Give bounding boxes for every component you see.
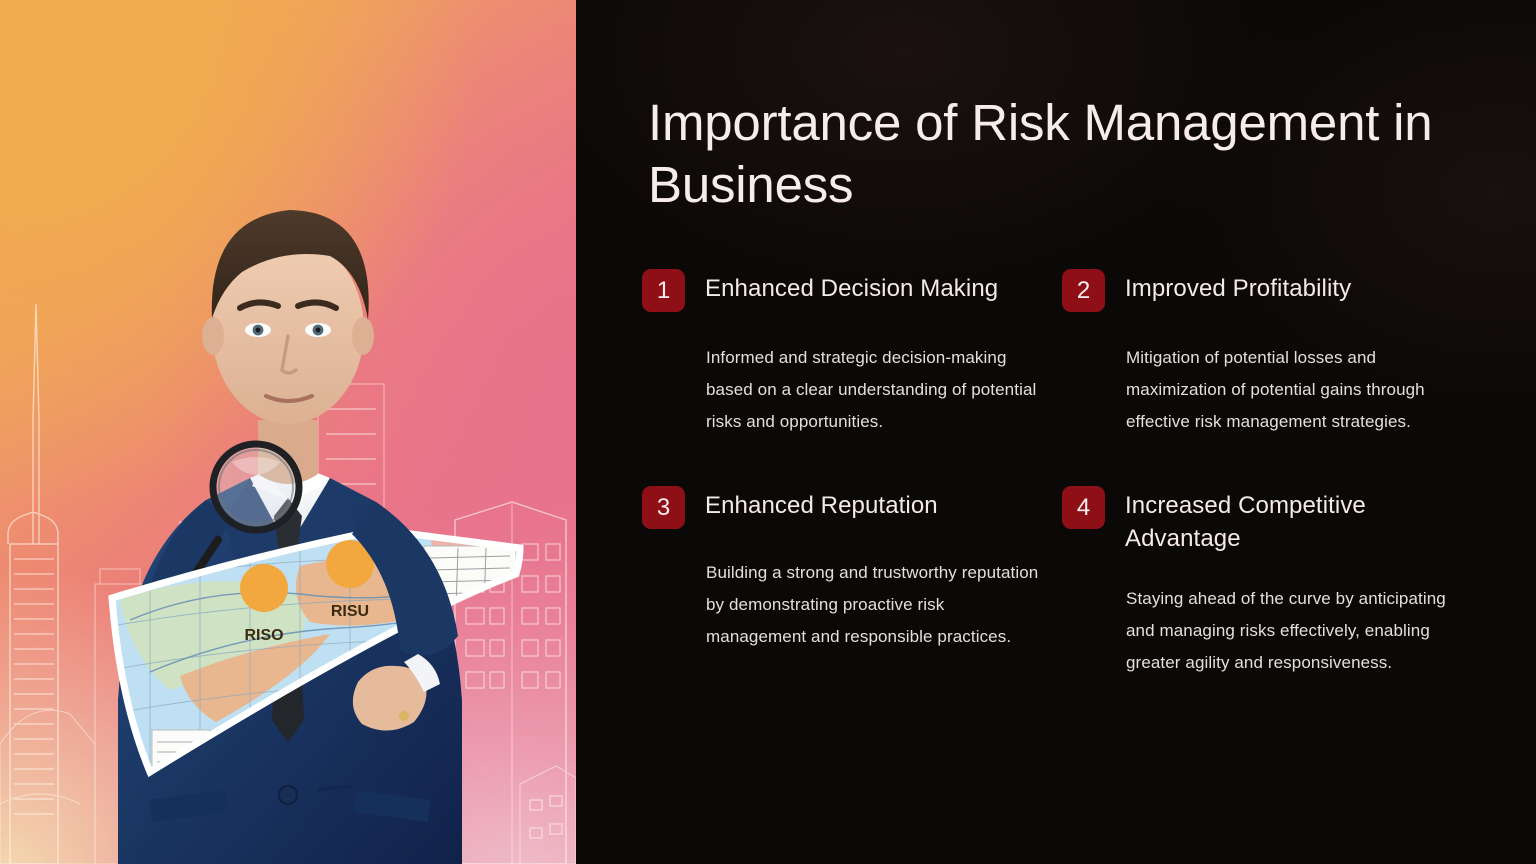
benefit-item-1-head: 1 Enhanced Decision Making [642,269,1040,312]
slide: RISO RISU Importance of Risk Management … [0,0,1536,864]
benefit-item-1-description: Informed and strategic decision-making b… [706,342,1040,438]
benefits-grid: 1 Enhanced Decision Making Informed and … [642,269,1502,679]
badge-number-4: 4 [1062,486,1105,529]
benefit-item-2-description: Mitigation of potential losses and maxim… [1126,342,1460,438]
badge-number-2: 2 [1062,269,1105,312]
svg-text:RISU: RISU [331,603,369,620]
benefit-item-1-title: Enhanced Decision Making [705,269,998,305]
benefit-item-4: 4 Increased Competitive Advantage Stayin… [1062,486,1482,679]
visual-panel: RISO RISU [0,0,576,864]
benefit-item-3-description: Building a strong and trustworthy reputa… [706,557,1040,653]
benefit-item-3: 3 Enhanced Reputation Building a strong … [642,486,1062,679]
content-panel: Importance of Risk Management in Busines… [576,0,1536,864]
benefit-item-4-title: Increased Competitive Advantage [1125,486,1460,555]
benefit-item-4-description: Staying ahead of the curve by anticipati… [1126,583,1460,679]
svg-text:RISO: RISO [244,627,283,644]
benefit-item-3-title: Enhanced Reputation [705,486,938,522]
benefit-item-2: 2 Improved Profitability Mitigation of p… [1062,269,1482,438]
benefit-item-4-head: 4 Increased Competitive Advantage [1062,486,1460,555]
badge-number-1: 1 [642,269,685,312]
benefit-item-2-title: Improved Profitability [1125,269,1351,305]
badge-number-3: 3 [642,486,685,529]
benefit-item-1: 1 Enhanced Decision Making Informed and … [642,269,1062,438]
benefit-item-3-head: 3 Enhanced Reputation [642,486,1040,529]
benefit-item-2-head: 2 Improved Profitability [1062,269,1460,312]
businessman-photo: RISO RISU [0,0,576,864]
page-title: Importance of Risk Management in Busines… [648,92,1483,216]
